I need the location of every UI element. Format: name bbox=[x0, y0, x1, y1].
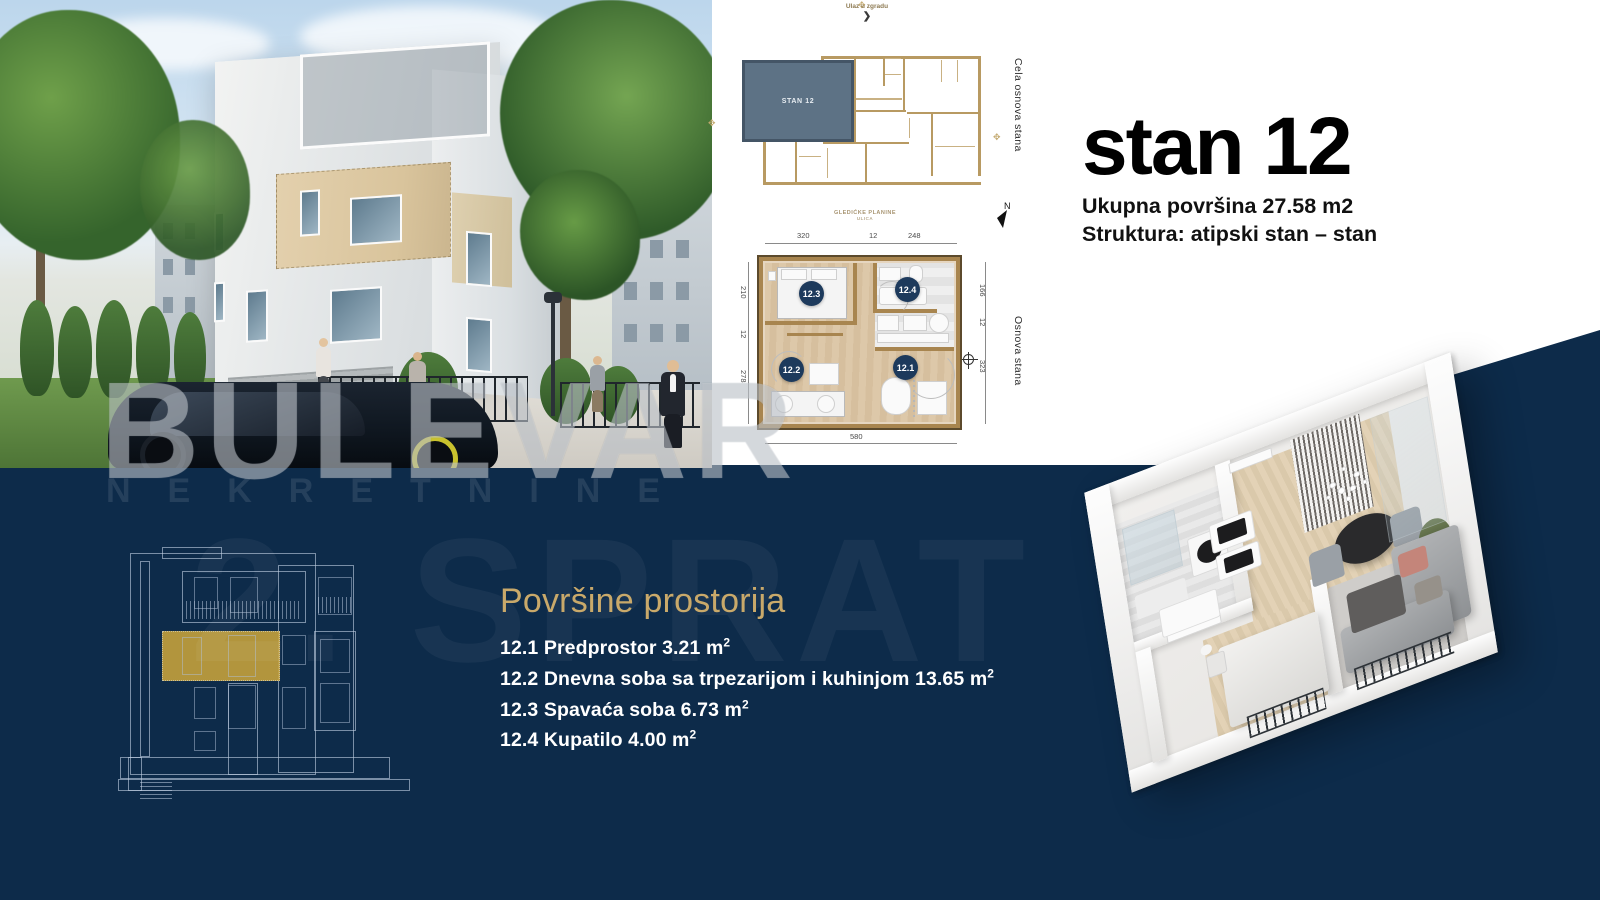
unit-marker-label: STAN 12 bbox=[745, 98, 851, 105]
room-badge-12-3: 12.3 bbox=[799, 281, 824, 306]
rooms-heading: Površine prostorija bbox=[500, 582, 1120, 621]
dim-right-166: 166 bbox=[978, 284, 987, 297]
room-item-unit-exponent: 2 bbox=[987, 666, 994, 680]
room-badge-12-1: 12.1 bbox=[893, 355, 918, 380]
marketing-sheet: ✥ Ulaz u zgradu ❯ ✥ ✥ bbox=[0, 0, 1600, 900]
dim-top-248: 248 bbox=[908, 231, 921, 240]
room-badge-12-2: 12.2 bbox=[779, 357, 804, 382]
structure-text: Struktura: atipski stan – stan bbox=[1082, 221, 1582, 249]
svg-text:N: N bbox=[1004, 201, 1011, 211]
compass-mark-left: ✥ bbox=[708, 118, 716, 129]
room-badge-12-4: 12.4 bbox=[895, 277, 920, 302]
dim-left-12: 12 bbox=[739, 330, 748, 338]
rooms-list: 12.1 Predprostor 3.21 m212.2 Dnevna soba… bbox=[500, 633, 1120, 756]
dim-left-278: 278 bbox=[739, 370, 748, 383]
building-floor-plan: ✥ Ulaz u zgradu ❯ ✥ ✥ bbox=[735, 14, 985, 214]
room-item-unit-exponent: 2 bbox=[742, 697, 749, 711]
exterior-building-render bbox=[0, 0, 712, 468]
page-title: stan 12 bbox=[1082, 108, 1582, 185]
compass-mark-right: ✥ bbox=[993, 132, 1001, 143]
total-area-text: Ukupna površina 27.58 m2 bbox=[1082, 193, 1582, 221]
apartment-floor-plan: 12.3 12.4 12.2 12.1 bbox=[757, 255, 962, 430]
room-list-item: 12.3 Spavaća soba 6.73 m2 bbox=[500, 695, 1120, 726]
room-list-item: 12.4 Kupatilo 4.00 m2 bbox=[500, 725, 1120, 756]
dim-top-320: 320 bbox=[797, 231, 810, 240]
dim-right-12: 12 bbox=[978, 318, 987, 326]
dim-right-323: 323 bbox=[978, 360, 987, 373]
room-item-text: 12.2 Dnevna soba sa trpezarijom i kuhinj… bbox=[500, 668, 987, 690]
north-arrow-icon: N bbox=[985, 198, 1025, 238]
building-elevation-drawing bbox=[118, 535, 428, 805]
rooms-section: Površine prostorija 12.1 Predprostor 3.2… bbox=[500, 582, 1120, 756]
dim-top-12: 12 bbox=[869, 231, 877, 240]
highlighted-unit-elevation bbox=[162, 631, 280, 681]
room-item-text: 12.1 Predprostor 3.21 m bbox=[500, 637, 723, 659]
header-block: stan 12 Ukupna površina 27.58 m2 Struktu… bbox=[1082, 108, 1582, 248]
entrance-label: Ulaz u zgradu bbox=[846, 3, 888, 10]
survey-target-icon bbox=[963, 354, 974, 365]
building-plan-caption: Cela osnova stana bbox=[1012, 58, 1024, 188]
highlighted-unit-stan-12: STAN 12 bbox=[742, 60, 854, 142]
room-item-unit-exponent: 2 bbox=[690, 728, 697, 742]
room-item-text: 12.4 Kupatilo 4.00 m bbox=[500, 729, 690, 751]
dim-bottom-580: 580 bbox=[850, 432, 863, 441]
room-item-unit-exponent: 2 bbox=[723, 636, 730, 650]
room-item-text: 12.3 Spavaća soba 6.73 m bbox=[500, 699, 742, 721]
apartment-plan-caption: Osnova stana bbox=[1012, 316, 1024, 431]
dim-left-210: 210 bbox=[739, 286, 748, 299]
room-list-item: 12.2 Dnevna soba sa trpezarijom i kuhinj… bbox=[500, 664, 1120, 695]
room-list-item: 12.1 Predprostor 3.21 m2 bbox=[500, 633, 1120, 664]
street-name-label: GLEDIĆKE PLANINE ULICA bbox=[795, 210, 935, 223]
